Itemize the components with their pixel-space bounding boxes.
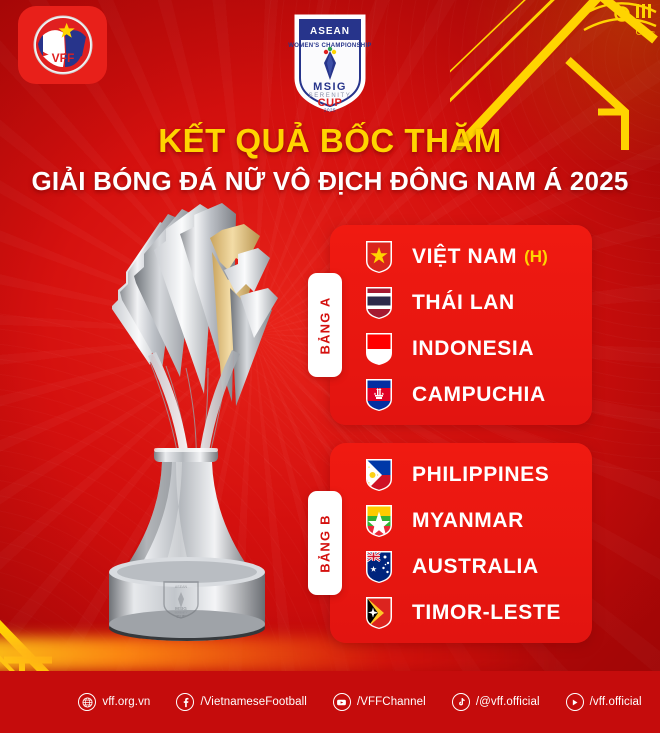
indonesia-flag-icon — [364, 331, 394, 367]
vff-logo-icon: VFF — [32, 14, 94, 76]
philippines-flag-icon — [364, 457, 394, 493]
trophy-image: ASEAN MSIG SERENITY CUP — [62, 196, 292, 658]
social-link-youtube[interactable]: /VFFChannel — [333, 693, 426, 711]
social-link-website[interactable]: vff.org.vn — [78, 693, 150, 711]
team-name: THÁI LAN — [412, 291, 515, 315]
svg-text:ONE: ONE — [635, 26, 656, 40]
group-b-label: BẢNG B — [318, 514, 333, 572]
table-row[interactable]: PHILIPPINES — [364, 452, 592, 498]
svg-text:CUP: CUP — [176, 614, 186, 619]
australia-flag-icon — [364, 549, 394, 585]
team-name: CAMPUCHIA — [412, 383, 546, 407]
team-name: AUSTRALIA — [412, 555, 539, 579]
website-globe-icon — [78, 693, 96, 711]
play-video-icon — [566, 693, 584, 711]
svg-text:MSIG: MSIG — [175, 606, 187, 611]
timorleste-flag-icon — [364, 595, 394, 631]
table-row[interactable]: TIMOR-LESTE — [364, 590, 592, 636]
svg-text:2025: 2025 — [324, 108, 336, 113]
group-a-panel: BẢNG A VIỆT NAM (H) — [330, 225, 592, 425]
svg-text:VFF: VFF — [51, 51, 74, 65]
msig-serenity-cup-logo-icon: ASEAN WOMEN'S CHAMPIONSHIP MSIG SERENITY… — [288, 8, 372, 114]
team-name: MYANMAR — [412, 509, 524, 533]
social-link-label: /vff.official — [590, 696, 642, 708]
group-a-label: BẢNG A — [318, 296, 333, 354]
social-link-label: /@vff.official — [476, 696, 540, 708]
table-row[interactable]: CAMPUCHIA — [364, 372, 592, 418]
table-row[interactable]: INDONESIA — [364, 326, 592, 372]
table-row[interactable]: AUSTRALIA — [364, 544, 592, 590]
social-link-label: /VietnameseFootball — [200, 696, 307, 708]
social-link-video[interactable]: /vff.official — [566, 693, 642, 711]
team-name: INDONESIA — [412, 337, 534, 361]
table-row[interactable]: MYANMAR — [364, 498, 592, 544]
group-a-team-list: VIỆT NAM (H) THÁI LAN — [330, 225, 592, 418]
table-row[interactable]: VIỆT NAM (H) — [364, 234, 592, 280]
facebook-icon — [176, 693, 194, 711]
svg-text:ASEAN: ASEAN — [175, 585, 188, 589]
social-link-facebook[interactable]: /VietnameseFootball — [176, 693, 307, 711]
team-name: TIMOR-LESTE — [412, 601, 561, 625]
myanmar-flag-icon — [364, 503, 394, 539]
social-link-label: /VFFChannel — [357, 696, 426, 708]
tournament-logo: ASEAN WOMEN'S CHAMPIONSHIP MSIG SERENITY… — [288, 8, 372, 114]
vietnam-flag-icon — [364, 239, 394, 275]
social-link-label: vff.org.vn — [102, 696, 150, 708]
team-name: PHILIPPINES — [412, 463, 549, 487]
group-a-tab: BẢNG A — [308, 273, 342, 377]
cambodia-flag-icon — [364, 377, 394, 413]
svg-text:ASEAN: ASEAN — [310, 26, 350, 37]
svg-text:MSIG: MSIG — [313, 81, 347, 93]
footer-social-bar: vff.org.vn /VietnameseFootball /VFFChann… — [0, 671, 660, 733]
thailand-flag-icon — [364, 285, 394, 321]
vff-logo: VFF — [18, 6, 107, 84]
host-badge: (H) — [524, 247, 548, 267]
page-title-block: KẾT QUẢ BỐC THĂM GIẢI BÓNG ĐÁ NỮ VÔ ĐỊCH… — [0, 122, 660, 197]
team-name: VIỆT NAM — [412, 245, 517, 269]
group-b-team-list: PHILIPPINES MYANMAR — [330, 443, 592, 636]
tiktok-icon — [452, 693, 470, 711]
social-link-tiktok[interactable]: /@vff.official — [452, 693, 540, 711]
youtube-icon — [333, 693, 351, 711]
page-title: KẾT QUẢ BỐC THĂM — [0, 122, 660, 160]
group-b-panel: BẢNG B PHILIPPINES — [330, 443, 592, 643]
table-row[interactable]: THÁI LAN — [364, 280, 592, 326]
group-b-tab: BẢNG B — [308, 491, 342, 595]
page-subtitle: GIẢI BÓNG ĐÁ NỮ VÔ ĐỊCH ĐÔNG NAM Á 2025 — [0, 166, 660, 197]
